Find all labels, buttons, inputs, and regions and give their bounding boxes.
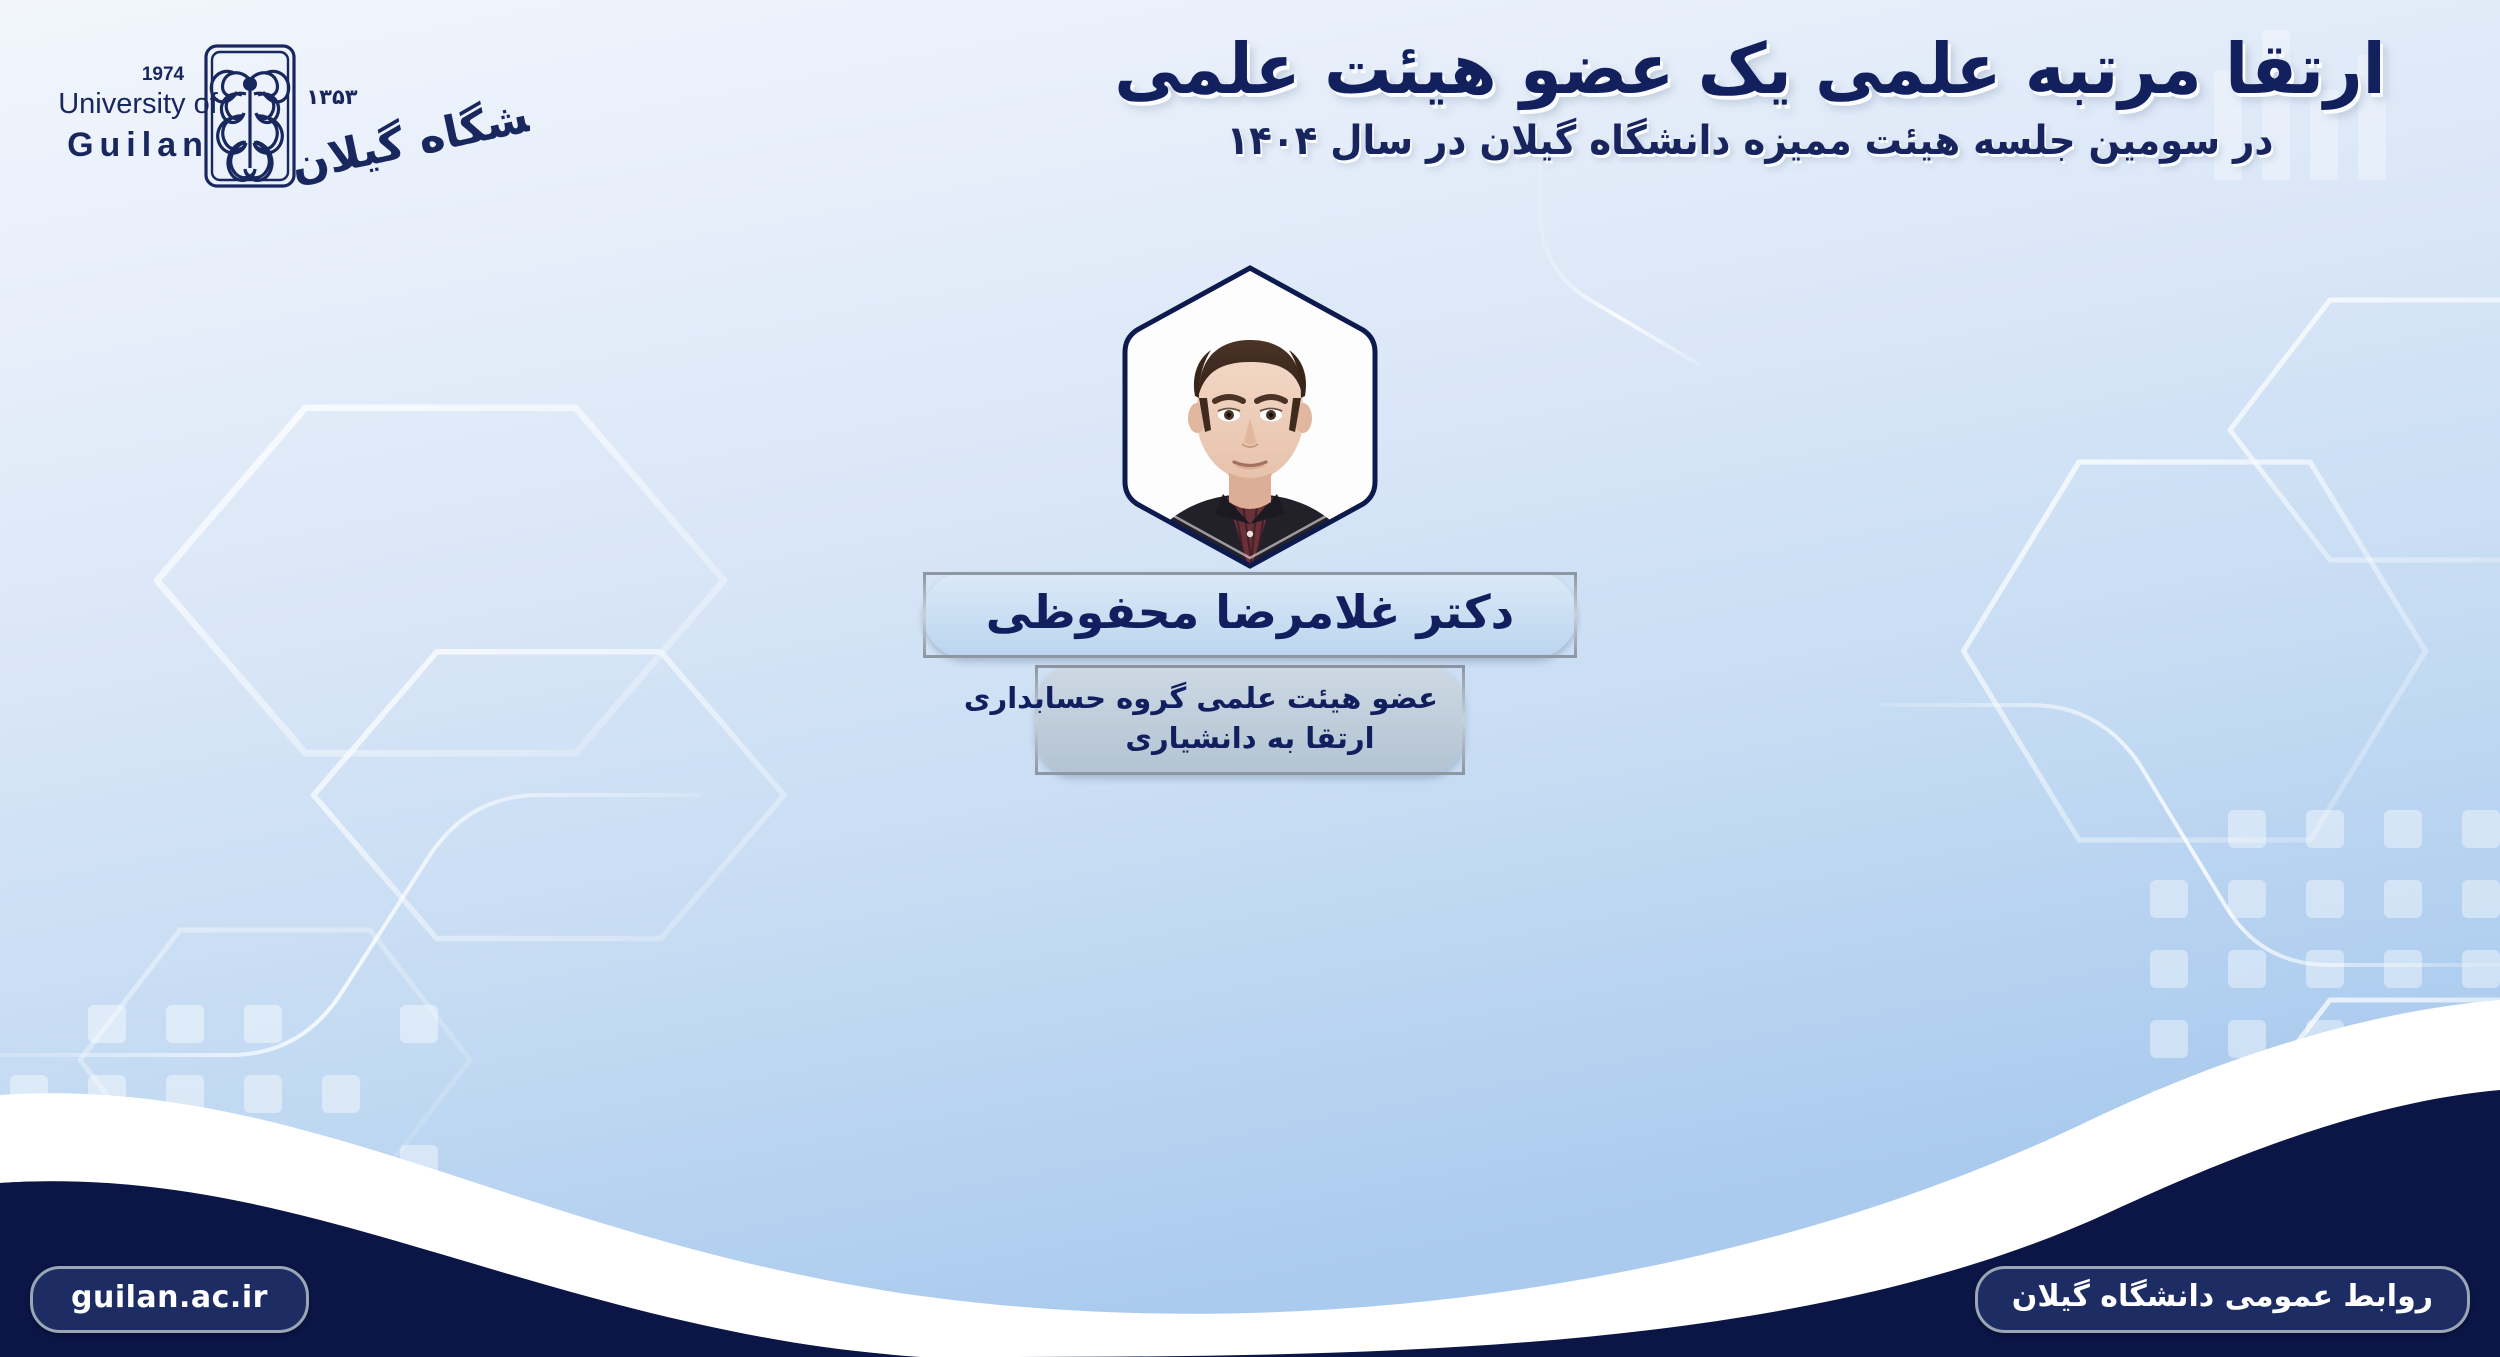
poster-canvas: 1974 University of Guilan ۱۳۵۳ xyxy=(0,0,2500,1357)
logo-year-persian: ۱۳۵۳ xyxy=(306,85,357,109)
portrait-photo xyxy=(1095,262,1405,572)
person-info-block: دکتر غلامرضا محفوظی عضو هیئت علمی گروه ح… xyxy=(890,572,1610,775)
person-role-badge: عضو هیئت علمی گروه حسابداری ارتقا به دان… xyxy=(1035,665,1465,775)
page-title: ارتقا مرتبه علمی یک عضو هیئت علمی xyxy=(1068,28,2431,111)
square-grid-right xyxy=(2150,810,2500,1128)
page-subtitle: در سومین جلسه هیئت ممیزه دانشگاه گیلان د… xyxy=(1090,117,2411,165)
person-name-badge: دکتر غلامرضا محفوظی xyxy=(923,572,1577,658)
portrait-frame xyxy=(1095,262,1405,572)
logo-emblem xyxy=(206,46,294,186)
header-text-block: ارتقا مرتبه علمی یک عضو هیئت علمی در سوم… xyxy=(1040,28,2460,165)
university-logo: 1974 University of Guilan ۱۳۵۳ xyxy=(60,38,530,228)
logo-line1: University of xyxy=(60,88,219,120)
website-badge[interactable]: guilan.ac.ir xyxy=(30,1266,309,1333)
logo-line2: Guilan xyxy=(67,126,209,164)
guilan-logo-svg: 1974 University of Guilan ۱۳۵۳ xyxy=(60,38,530,228)
logo-year-latin: 1974 xyxy=(142,64,185,85)
portrait-hexagon-svg xyxy=(1095,262,1405,572)
person-role-line-1: عضو هیئت علمی گروه حسابداری xyxy=(1062,678,1438,718)
square-grid-left xyxy=(10,1005,438,1283)
public-relations-badge: روابط عمومی دانشگاه گیلان xyxy=(1975,1266,2470,1333)
person-role-line-2: ارتقا به دانشیاری xyxy=(1062,718,1438,758)
